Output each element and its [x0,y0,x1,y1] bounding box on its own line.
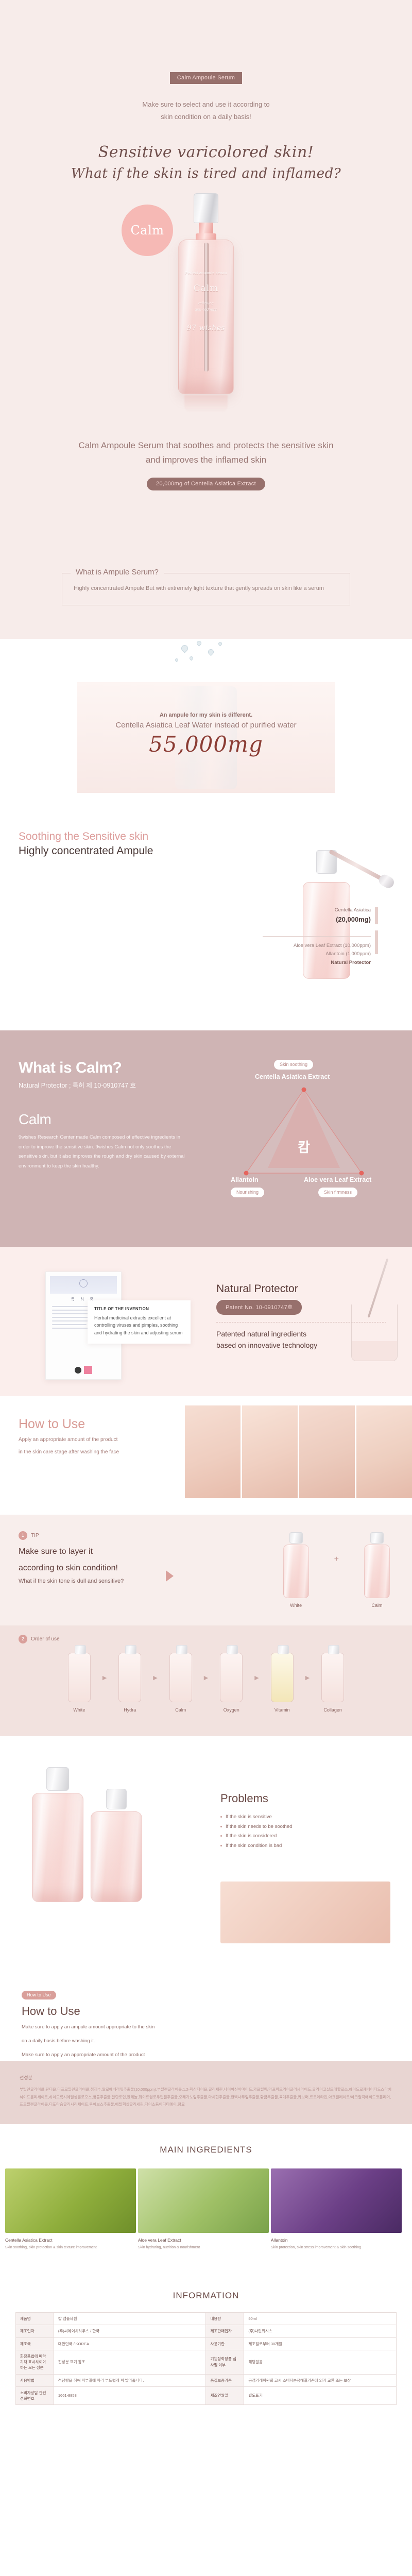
hero-badge-wrap: Calm Ampoule Serum [0,0,412,84]
drop-icon [175,658,179,662]
soothing-section: Soothing the Sensitive skin Highly conce… [0,809,412,1030]
chevron-right-icon: ▶ [102,1674,107,1690]
triangle-center-glyph: 캄 [298,1137,310,1156]
ingredient-card-name: Aloe vera Leaf Extract [138,2238,269,2243]
hand-photo [220,1882,390,1943]
problems-item: If the skin is considered [220,1832,390,1841]
ingredient-photo-centella [5,2168,136,2233]
step-number-badge: 1 [19,1531,27,1540]
layering-bottle-right-label: Calm [363,1603,391,1608]
order-step: Calm [159,1653,202,1713]
calm-paragraph: 9wishes Research Center made Calm compos… [19,1133,188,1171]
bottle-neck [199,223,213,234]
layering-bottle-calm: Calm [363,1532,391,1608]
table-key: 화장품법에 따라 기재 표시하여야 하는 모든 성분 [16,2350,54,2374]
problems-copy: Problems If the skin is sensitive If the… [220,1792,390,1851]
ingredient-card: Centella Asiatica Extract Skin soothing,… [5,2168,136,2250]
order-step-label: Collagen [311,1707,354,1713]
hero-subtitle-line2: skin condition on a daily basis! [0,111,412,123]
hero-bottle-illustration: Calm Perfect ampoule serum Calm relievin… [0,193,412,435]
problems-bottle-small [90,1789,143,1902]
table-value: (주)씨에이치하우스 / 한국 [54,2325,206,2337]
ampoule-definition-body: Highly concentrated Ampule But with extr… [74,584,338,594]
order-step: Vitamin [261,1653,304,1713]
hero-cta-badge: 20,000mg of Centella Asiatica Extract [147,478,265,490]
hero-script-line2: What if the skin is tired and inflamed? [0,164,412,184]
serum-bottle: Perfect ampoule serum Calm relieving ant… [175,193,237,415]
order-step: Collagen [311,1653,354,1713]
drop-icon [218,641,223,647]
beaker-icon [351,1304,398,1361]
table-key: 사용기한 [206,2337,244,2350]
node-label-aloe: Aloe vera Leaf Extract [304,1176,371,1183]
drop-icon [196,640,202,647]
table-row: 화장품법에 따라 기재 표시하여야 하는 모든 성분 전성분 표기 참조 기능성… [16,2350,397,2374]
calm-circle-badge: Calm [122,205,173,256]
order-step: Hydra [108,1653,151,1713]
step-label: TIP [31,1533,39,1538]
tag-skin-firmness: Skin firmness [318,1188,357,1197]
certificate-footer [46,1366,121,1374]
layering-bottles: White + Calm [282,1532,391,1608]
order-step-label: White [58,1707,101,1713]
bottle-reflection [184,395,228,413]
problems-list: If the skin is sensitive If the skin nee… [220,1812,390,1851]
table-value: 해당없음 [244,2350,397,2374]
table-value: 1661-8853 [54,2386,206,2405]
leaf-water-line2: Centella Asiatica Leaf Water instead of … [77,721,335,730]
ingredient-sub-line2: Allantoin (1,000ppm) [263,950,371,959]
leaf-water-line1: An ampule for my skin is different. [77,682,335,718]
table-row: 소비자상담 관련 전화번호 1661-8853 제조연월일 별도표기 [16,2386,397,2405]
bottle-brand: Calm [175,281,237,296]
bottle-label-line4: anti-redness [175,307,237,313]
invention-callout: TITLE OF THE INVENTION Herbal medicinal … [88,1300,191,1344]
layering-step-tag: 1 TIP [19,1531,39,1540]
table-key: 소비자상담 관련 전화번호 [16,2386,54,2405]
main-ingredients-grid: Centella Asiatica Extract Skin soothing,… [0,2168,412,2250]
chevron-right-icon: ▶ [305,1674,310,1690]
problems-section: Problems If the skin is sensitive If the… [0,1736,412,1978]
bottle-cap-icon [46,1767,69,1791]
order-step-label: Calm [159,1707,202,1713]
ampoule-definition-box: What is Ampule Serum? Highly concentrate… [62,573,350,605]
table-value: 칼 앰플세럼 [54,2313,206,2325]
problems-heading: Problems [220,1792,390,1805]
bottle-cap-icon [106,1789,127,1809]
layering-bottle-white: White [282,1532,311,1608]
table-key: 제조판매업자 [206,2325,244,2337]
how-to-use-tag: How to Use [22,1991,56,1999]
official-stamp-icon [84,1366,92,1374]
problems-bottle-large [31,1767,84,1902]
hero-subtitle-line1: Make sure to select and use it according… [0,98,412,111]
tag-skin-soothing: Skin soothing [274,1060,313,1070]
ingredient-triangle-diagram: Skin soothing Centella Asiatica Extract … [211,1059,397,1213]
order-step: Oxygen [210,1653,253,1713]
table-row: 제조업자 (주)씨에이치하우스 / 한국 제조판매업자 (주)나인위시스 [16,2325,397,2337]
invention-callout-title: TITLE OF THE INVENTION [94,1307,184,1311]
node-label-allantoin: Allantoin [231,1176,258,1183]
main-ingredients-section: MAIN INGREDIENTS Centella Asiatica Extra… [0,2124,412,2273]
how-to-use-top-section: How to Use Apply an appropriate amount o… [0,1396,412,1515]
bottle-body [32,1793,83,1902]
table-key: 제품명 [16,2313,54,2325]
plus-icon: + [334,1555,339,1564]
order-step-bottle [118,1653,141,1702]
full-ingredients-body: 부틸렌글라이콜,판디올,디프로필렌글라이콜,정제수,알로에베라잎추출물(10,0… [20,2086,392,2109]
table-value: 제조일로부터 30개월 [244,2337,397,2350]
bottle-label-line3: relieving [175,301,237,307]
table-row: 사용방법 적당량을 취해 피부결에 따라 부드럽게 펴 발라줍니다. 품질보증기… [16,2374,397,2386]
how-to-use-bottom-section: How to Use How to Use Make sure to apply… [0,1978,412,2061]
face-photo [299,1405,355,1498]
problems-item: If the skin needs to be soothed [220,1822,390,1832]
certificate-line [52,1324,87,1325]
layering-bottle-left-label: White [282,1603,311,1608]
drop-icon [207,648,215,656]
mini-bottle-cap-icon [370,1532,384,1544]
certificate-header-band [50,1276,117,1294]
arrow-right-icon [166,1570,174,1582]
face-photo [185,1405,241,1498]
order-step-bottle [169,1653,192,1702]
table-value: 대한민국 / KOREA [54,2337,206,2350]
ingredient-card-desc: Skin soothing, skin protection & skin te… [5,2245,136,2250]
face-photo [242,1405,298,1498]
order-step-label: Oxygen [210,1707,253,1713]
ingredient-card: Allantoin Skin protection, skin stress i… [271,2168,402,2250]
table-value: (주)나인위시스 [244,2325,397,2337]
beaker-liquid [352,1341,397,1361]
ingredient-photo-aloe [138,2168,269,2233]
chevron-right-icon: ▶ [153,1674,157,1690]
leaf-water-amount: 55,000mg [77,732,335,757]
problems-bottles [31,1767,143,1902]
what-is-calm-section: What is Calm? Natural Protector ; 특허 제 1… [0,1030,412,1247]
hero-badge: Calm Ampoule Serum [170,72,242,84]
table-key: 제조국 [16,2337,54,2350]
order-step-bottle [271,1653,294,1702]
table-key: 품질보증기준 [206,2374,244,2386]
how-to-use-bottom-line1: Make sure to apply an ampule amount appr… [22,2023,390,2032]
ingredient-card-name: Allantoin [271,2238,402,2243]
government-seal-icon [79,1279,88,1287]
hero-tagline-line2: and improves the inflamed skin [0,453,412,467]
hero-section: Calm Ampoule Serum Make sure to select a… [0,0,412,562]
ingredient-card-name: Centella Asiatica Extract [5,2238,136,2243]
main-ingredients-heading: MAIN INGREDIENTS [0,2145,412,2155]
bottle-cap-icon [194,193,218,223]
face-photo [356,1405,412,1498]
dropper-bulb-icon [377,873,396,890]
table-row: 제품명 칼 앰플세럼 내용량 50ml [16,2313,397,2325]
natural-protector-heading: Natural Protector [216,1283,386,1295]
hero-cta-wrap: 20,000mg of Centella Asiatica Extract [0,478,412,490]
mini-bottle-body [283,1545,309,1598]
chevron-right-icon: ▶ [254,1674,259,1690]
hero-script-line1: Sensitive varicolored skin! [0,141,412,164]
full-ingredients-section: 전성분 부틸렌글라이콜,판디올,디프로필렌글라이콜,정제수,알로에베라잎추출물(… [0,2061,412,2124]
table-key: 제조연월일 [206,2386,244,2405]
face-photo-strip [185,1405,412,1498]
table-key: 제조업자 [16,2325,54,2337]
certificate-line [52,1310,90,1311]
ingredient-tick [375,930,378,954]
order-step-tag: 2 Order of use [0,1635,60,1643]
table-value: 공정거래위원회 고시 소비자분쟁해결기준에 의거 교환 또는 보상 [244,2374,397,2386]
order-step-label: Order of use [31,1636,60,1642]
tag-nourishing: Nourishing [231,1188,264,1197]
bottle-label-text: Perfect ampoule serum Calm relieving ant… [175,270,237,334]
invention-callout-body: Herbal medicinal extracts excellent at c… [94,1314,184,1336]
how-to-use-bottom-line2: on a daily basis before washing it. [22,2037,390,2046]
order-step-label: Hydra [108,1707,151,1713]
full-ingredients-label: 전성분 [20,2074,392,2081]
mini-bottle-body [364,1545,390,1598]
ingredient-sub-line3: Natural Protector [331,960,371,965]
layering-tip-section: 1 TIP Make sure to layer it according to… [0,1515,412,1625]
hero-subtitle: Make sure to select and use it according… [0,98,412,123]
table-value: 적당량을 취해 피부결에 따라 부드럽게 펴 발라줍니다. [54,2374,206,2386]
order-step: White [58,1653,101,1713]
table-value: 50ml [244,2313,397,2325]
hero-tagline-line1: Calm Ampoule Serum that soothes and prot… [0,438,412,453]
hero-tagline: Calm Ampoule Serum that soothes and prot… [0,438,412,467]
order-step-bottle [68,1653,91,1702]
hero-script-headline: Sensitive varicolored skin! What if the … [0,141,412,184]
problems-item: If the skin is sensitive [220,1812,390,1822]
ingredient-main-amount: (20,000mg) [263,914,371,925]
table-value: 전성분 표기 참조 [54,2350,206,2374]
ingredient-sub-line1: Aloe vera Leaf Extract (10,000ppm) [263,942,371,951]
order-steps-row: White ▶ Hydra ▶ Calm ▶ Oxygen ▶ Vitamin [0,1653,412,1713]
ingredient-sub: Aloe vera Leaf Extract (10,000ppm) Allan… [263,942,371,968]
order-step-label: Vitamin [261,1707,304,1713]
node-label-centella: Centella Asiatica Extract [255,1073,330,1080]
table-value: 별도표기 [244,2386,397,2405]
bottle-label-line2: ampoule serum [199,272,227,275]
order-step-bottle [220,1653,243,1702]
problems-item: If the skin condition is bad [220,1841,390,1851]
bottle-number: 97 wishes [175,323,237,335]
ingredient-main-name: Centella Asiatica [335,907,371,913]
table-key: 사용방법 [16,2374,54,2386]
mini-bottle-cap-icon [289,1532,303,1544]
table-key: 기능성화장품 심사필 여부 [206,2350,244,2374]
ingredient-card-desc: Skin hydrating, nutrition & nourishment [138,2245,269,2250]
information-heading: INFORMATION [0,2291,412,2301]
leaf-water-section: An ampule for my skin is different. Cent… [0,639,412,809]
natural-protector-section: 특 허 증 TITLE OF THE INVENTION Herbal medi… [0,1247,412,1396]
ingredient-photo-allantoin [271,2168,402,2233]
ingredient-tick [375,907,378,924]
table-row: 제조국 대한민국 / KOREA 사용기한 제조일로부터 30개월 [16,2337,397,2350]
order-of-use-section: 2 Order of use White ▶ Hydra ▶ Calm ▶ Ox… [0,1625,412,1736]
ingredient-main: Centella Asiatica (20,000mg) [263,907,371,925]
drop-icon [189,656,194,661]
how-to-use-bottom-heading: How to Use [22,2005,390,2018]
product-landing-page: Calm Ampoule Serum Make sure to select a… [0,0,412,2434]
step-number-badge: 2 [19,1635,27,1643]
water-drops-illustration [0,639,412,675]
leaf-water-card: An ampule for my skin is different. Cent… [77,682,335,793]
chevron-right-icon: ▶ [204,1674,208,1690]
bottle-label-line1: Perfect [185,272,198,275]
ampoule-definition-section: What is Ampule Serum? Highly concentrate… [0,562,412,639]
information-table: 제품명 칼 앰플세럼 내용량 50ml 제조업자 (주)씨에이치하우스 / 한국… [15,2312,397,2405]
ingredient-card: Aloe vera Leaf Extract Skin hydrating, n… [138,2168,269,2250]
drop-icon [180,643,189,653]
ingredient-card-desc: Skin protection, skin stress improvement… [271,2245,402,2250]
patent-number-badge: Patent No. 10-0910747호 [216,1300,302,1315]
ingredient-divider [263,936,371,937]
order-step-bottle [321,1653,344,1702]
information-section: INFORMATION 제품명 칼 앰플세럼 내용량 50ml 제조업자 (주)… [0,2273,412,2434]
kipo-logo-icon [75,1367,81,1374]
how-to-use-bottom-line3: Make sure to apply an appropriate amount… [22,2050,390,2060]
ingredient-labels: Centella Asiatica (20,000mg) Aloe vera L… [263,907,371,968]
ampoule-definition-legend: What is Ampule Serum? [71,568,164,577]
bottle-body [91,1811,142,1902]
table-key: 내용량 [206,2313,244,2325]
ingredient-bottle-art: Centella Asiatica (20,000mg) Aloe vera L… [154,819,412,1025]
